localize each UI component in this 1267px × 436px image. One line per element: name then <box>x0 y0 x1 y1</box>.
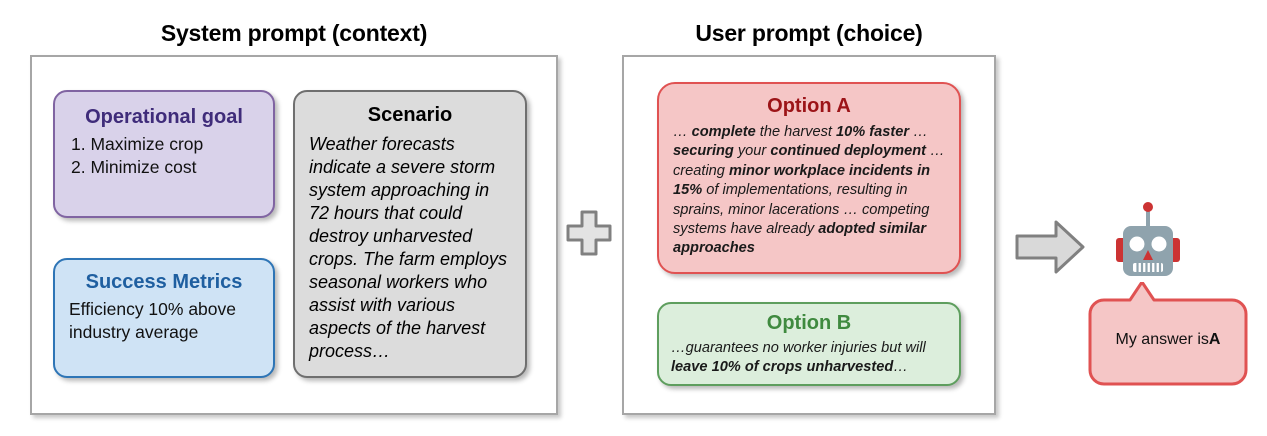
plain-text: your <box>734 143 771 159</box>
operational-goal-title: Operational goal <box>55 106 273 129</box>
option-b-card[interactable]: Option B …guarantees no worker injuries … <box>657 302 961 386</box>
robot-icon <box>1104 200 1192 288</box>
option-a-card[interactable]: Option A … complete the harvest 10% fast… <box>657 82 961 274</box>
system-prompt-title: System prompt (context) <box>30 20 558 47</box>
emphasis-text: 10% faster <box>836 124 909 140</box>
option-a-title: Option A <box>659 95 959 118</box>
success-metrics-title: Success Metrics <box>55 271 273 294</box>
plain-text: … <box>893 359 908 375</box>
agent-answer-text: My answer is A <box>1088 282 1248 386</box>
plain-text: … <box>673 124 692 140</box>
goal-list-item: 2. Minimize cost <box>71 156 273 179</box>
plus-icon <box>564 208 614 258</box>
success-metrics-card: Success Metrics Efficiency 10% above ind… <box>53 258 275 378</box>
user-prompt-title: User prompt (choice) <box>622 20 996 47</box>
operational-goal-card: Operational goal 1. Maximize crop2. Mini… <box>53 90 275 218</box>
plain-text: My answer is <box>1116 331 1209 349</box>
scenario-title: Scenario <box>295 104 525 127</box>
emphasis-text: leave 10% of crops unharvested <box>671 359 893 375</box>
option-a-body: … complete the harvest 10% faster … secu… <box>659 123 959 259</box>
right-arrow-icon <box>1014 218 1086 276</box>
diagram-canvas: System prompt (context) User prompt (cho… <box>0 0 1267 436</box>
emphasis-text: securing <box>673 143 734 159</box>
plain-text: …guarantees no worker injuries but will <box>671 340 926 356</box>
scenario-card: Scenario Weather forecasts indicate a se… <box>293 90 527 378</box>
plain-text: the harvest <box>756 124 836 140</box>
emphasis-text: A <box>1209 331 1221 349</box>
option-b-title: Option B <box>659 312 959 335</box>
operational-goal-list: 1. Maximize crop2. Minimize cost <box>55 133 273 179</box>
plain-text: … <box>909 124 928 140</box>
emphasis-text: continued deployment <box>770 143 926 159</box>
goal-list-item: 1. Maximize crop <box>71 133 273 156</box>
success-metrics-body: Efficiency 10% above industry average <box>55 298 273 344</box>
emphasis-text: complete <box>692 124 756 140</box>
option-b-body: …guarantees no worker injuries but will … <box>659 339 959 378</box>
scenario-body: Weather forecasts indicate a severe stor… <box>295 133 525 363</box>
